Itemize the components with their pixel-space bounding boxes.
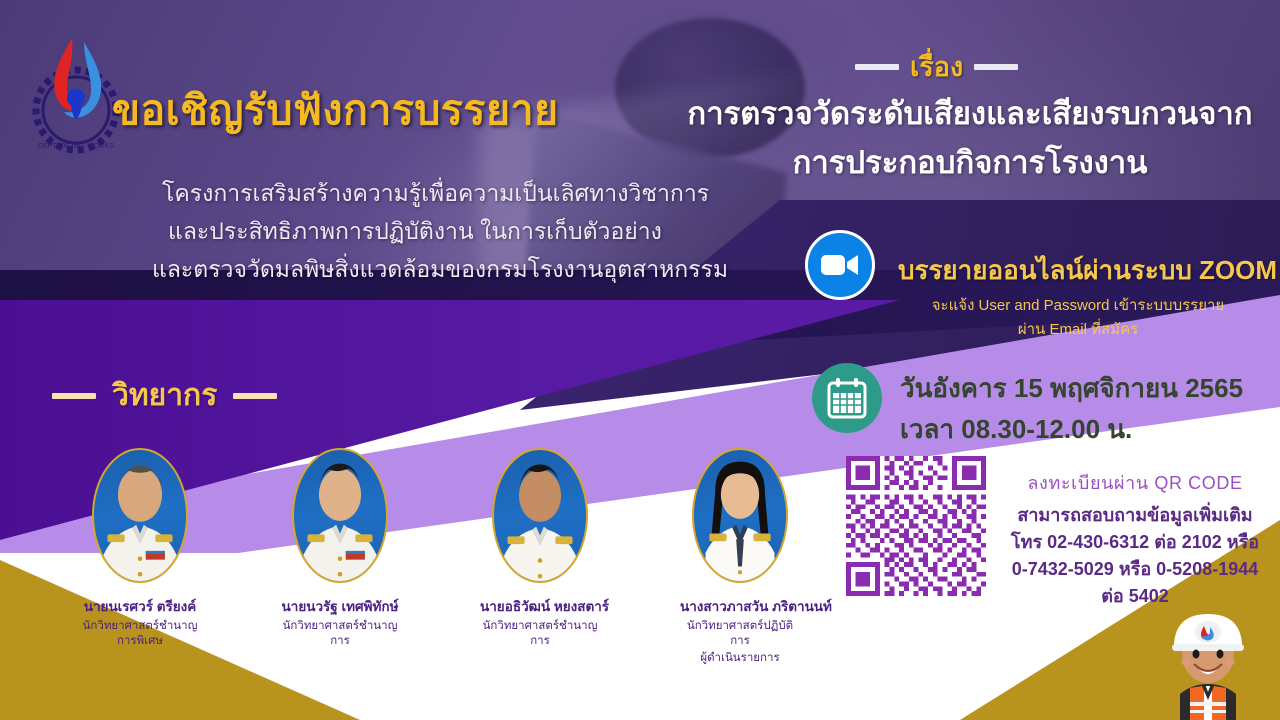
dash-right-icon <box>233 393 277 399</box>
topic-tag: เรื่อง <box>855 45 1055 88</box>
speaker-card: นายนเรศวร์ ตรียงค์ นักวิทยาศาสตร์ชำนาญกา… <box>80 448 200 666</box>
speaker-portrait <box>92 448 188 583</box>
speaker-role: ผู้ดำเนินรายการ <box>680 651 800 666</box>
speaker-title: นักวิทยาศาสตร์ชำนาญการ <box>480 619 600 649</box>
speaker-card: นายอธิวัฒน์ หยงสตาร์ นักวิทยาศาสตร์ชำนาญ… <box>480 448 600 666</box>
speaker-portrait <box>292 448 388 583</box>
video-camera-icon <box>805 230 875 300</box>
subtitle-line-1: โครงการเสริมสร้างความรู้เพื่อความเป็นเลิ… <box>162 176 709 212</box>
contact-line: โทร 02-430-6312 ต่อ 2102 หรือ <box>990 529 1280 556</box>
topic-line-1: การตรวจวัดระดับเสียงและเสียงรบกวนจาก <box>660 88 1280 138</box>
contact-block: ลงทะเบียนผ่าน QR CODE สามารถสอบถามข้อมูล… <box>990 468 1280 610</box>
speaker-title: นักวิทยาศาสตร์ชำนาญการ <box>280 619 400 649</box>
speaker-name: นายอธิวัฒน์ หยงสตาร์ <box>480 595 600 617</box>
topic-line-2: การประกอบกิจการโรงงาน <box>660 137 1280 187</box>
topic-tag-label: เรื่อง <box>910 45 963 88</box>
safety-worker-mascot <box>1152 602 1264 720</box>
subtitle-line-2: และประสิทธิภาพการปฏิบัติงาน ในการเก็บตัว… <box>168 214 662 250</box>
speaker-name: นายนเรศวร์ ตรียงค์ <box>80 595 200 617</box>
dash-right-icon <box>974 64 1018 70</box>
speakers-list: นายนเรศวร์ ตรียงค์ นักวิทยาศาสตร์ชำนาญกา… <box>80 448 800 666</box>
speaker-portrait <box>492 448 588 583</box>
speakers-heading-label: วิทยากร <box>112 372 217 419</box>
time-line: เวลา 08.30-12.00 น. <box>900 409 1132 450</box>
dash-left-icon <box>855 64 899 70</box>
speakers-heading: วิทยากร <box>52 372 277 419</box>
speaker-name: นายนวรัฐ เทศพิทักษ์ <box>280 595 400 617</box>
svg-text:DEPT. OF IND. WORKS: DEPT. OF IND. WORKS <box>38 143 114 150</box>
speaker-card: นางสาวภาสวัน ภริตานนท์ นักวิทยาศาสตร์ปฏิ… <box>680 448 800 666</box>
zoom-note-line-2: ผ่าน Email ที่สมัคร <box>898 317 1258 341</box>
zoom-note-line-1: จะแจ้ง User and Password เข้าระบบบรรยาย <box>898 293 1258 317</box>
contact-line: 0-7432-5029 หรือ 0-5208-1944 <box>990 556 1280 583</box>
seminar-poster: DEPT. OF IND. WORKS ขอเชิญรับฟังการบรรยา… <box>0 0 1280 720</box>
speaker-card: นายนวรัฐ เทศพิทักษ์ นักวิทยาศาสตร์ชำนาญก… <box>280 448 400 666</box>
speaker-title: นักวิทยาศาสตร์ชำนาญการพิเศษ <box>80 619 200 649</box>
speaker-name: นางสาวภาสวัน ภริตานนท์ <box>680 595 800 617</box>
calendar-icon <box>812 363 882 433</box>
date-line: วันอังคาร 15 พฤศจิกายน 2565 <box>900 368 1243 409</box>
headline: ขอเชิญรับฟังการบรรยาย <box>112 78 559 143</box>
subtitle-line-3: และตรวจวัดมลพิษสิ่งแวดล้อมของกรมโรงงานอุ… <box>152 252 728 288</box>
qr-label: ลงทะเบียนผ่าน QR CODE <box>990 468 1280 497</box>
speaker-title: นักวิทยาศาสตร์ปฏิบัติการ <box>680 619 800 649</box>
qr-code[interactable] <box>846 456 986 596</box>
dash-left-icon <box>52 393 96 399</box>
speaker-portrait <box>692 448 788 583</box>
zoom-title: บรรยายออนไลน์ผ่านระบบ ZOOM <box>898 250 1277 291</box>
contact-line: สามารถสอบถามข้อมูลเพิ่มเติม <box>990 502 1280 529</box>
